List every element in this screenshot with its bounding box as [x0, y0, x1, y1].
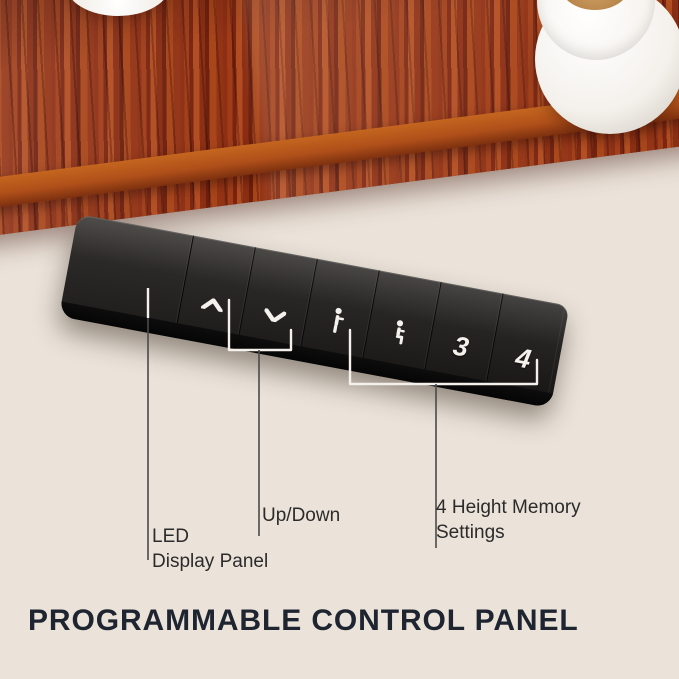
standing-person-icon	[327, 306, 347, 338]
chevron-down-icon	[262, 308, 287, 328]
headline: PROGRAMMABLE CONTROL PANEL	[28, 604, 579, 638]
callout-led-display-panel: LED Display Panel	[152, 524, 268, 574]
control-panel: 3 4	[78, 214, 598, 424]
memory-preset-4-label: 4	[513, 344, 533, 373]
control-panel-body: 3 4	[59, 214, 570, 408]
panel-keys: 3 4	[59, 214, 570, 408]
chevron-up-icon	[200, 296, 225, 316]
callout-up-down: Up/Down	[262, 503, 340, 528]
product-image: 3 4 LED Display Panel Up/Down 4 Height M…	[0, 0, 679, 679]
memory-preset-3-label: 3	[451, 333, 471, 362]
sitting-person-icon	[389, 318, 409, 350]
callout-height-memory: 4 Height Memory Settings	[436, 495, 581, 545]
